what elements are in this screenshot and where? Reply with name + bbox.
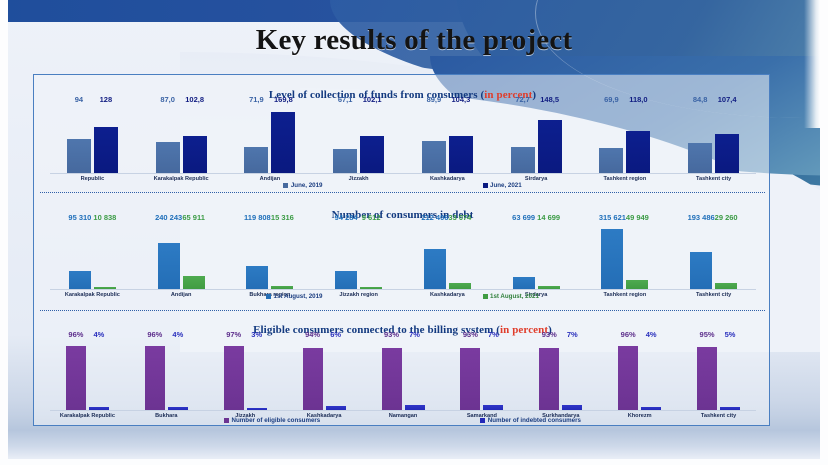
bar[interactable] [94,127,118,173]
bar-column: 93% [539,340,559,410]
legend-item[interactable]: 1st August, 2021 [483,293,539,300]
bar[interactable] [66,346,86,410]
bar-column: 7% [405,340,425,410]
legend-swatch-icon [266,294,271,299]
bar-column: 69,9 [599,105,623,173]
bar-column: 3% [247,340,267,410]
bar[interactable] [405,405,425,410]
bar[interactable] [697,347,717,410]
bar[interactable] [511,147,535,173]
bar[interactable] [599,148,623,173]
chart-2-plot: 95 31010 838Karakalpak Republic240 24365… [48,223,758,289]
bar-value-label: 212 406 [421,213,448,222]
bar[interactable] [158,243,180,289]
bar-value-label: 95 310 [68,213,91,222]
legend-swatch-icon [283,183,288,188]
bar-group: 63 69914 699Sirdarya [492,223,581,289]
legend-item[interactable]: June, 2019 [283,182,322,189]
bar[interactable] [422,141,446,173]
legend-label: 1st August, 2021 [490,293,539,300]
bar-column: 84,8 [688,105,712,173]
bar-column: 97% [224,340,244,410]
bar-column: 14 699 [538,223,560,289]
bar-column: 119 808 [246,223,268,289]
bar[interactable] [244,147,268,173]
bar-column: 10 838 [94,223,116,289]
chart-panel-billing: Eligible consumers connected to the bill… [34,310,771,427]
bar[interactable] [303,348,323,411]
bar-value-label: 96% [68,330,83,339]
bar[interactable] [326,406,346,410]
category-label: Kashkadarya [403,176,492,182]
bottom-gutter [0,459,828,465]
bar-value-label: 93% [384,330,399,339]
bar-column: 118,0 [626,105,650,173]
bar-value-label: 84,8 [693,95,708,104]
legend-label: June, 2021 [490,182,522,189]
bar-value-label: 93% [463,330,478,339]
bar-column: 94% [303,340,323,410]
bar[interactable] [94,287,116,289]
bar-column: 94 284 [335,223,357,289]
bar-group: 69,9118,0Tashkent region [581,105,670,173]
chart-panel-debt: Number of consumers in debt 95 31010 838… [34,195,771,305]
bar-column: 128 [94,105,118,173]
bar-column: 240 243 [158,223,180,289]
bar-group: 193 48629 260Tashkent city [669,223,758,289]
bar-value-label: 6% [330,330,341,339]
bar-column: 15 316 [271,223,293,289]
category-label: Karakalpak Republic [137,176,226,182]
bar-value-label: 128 [100,95,113,104]
bar-group: 212 40633 074Kashkadarya [403,223,492,289]
bar-column: 65 911 [183,223,205,289]
bar[interactable] [69,271,91,289]
bar-column: 49 949 [626,223,648,289]
bar-value-label: 169,8 [274,95,293,104]
bar-value-label: 95% [700,330,715,339]
bar-column: 95% [697,340,717,410]
chart-3-plot: 96%4%Karakalpak Republic96%4%Bukhara97%3… [48,340,758,410]
bar[interactable] [618,346,638,410]
bar-group: 95 31010 838Karakalpak Republic [48,223,137,289]
bar-column: 102,1 [360,105,384,173]
bar-group: 315 62149 949Tashkent region [581,223,670,289]
bar-value-label: 119 808 [244,213,271,222]
chart-2-legend: 1st August, 20191st August, 2021 [34,293,771,300]
bar-value-label: 118,0 [629,95,647,104]
panel-divider-1 [40,192,765,193]
bar-value-label: 10 838 [93,213,116,222]
bar[interactable] [538,120,562,173]
bar-value-label: 65 911 [182,213,205,222]
chart-1-legend: June, 2019June, 2021 [34,182,771,189]
bar-column: 63 699 [513,223,535,289]
bar-column: 193 486 [690,223,712,289]
bar[interactable] [271,112,295,173]
bar[interactable] [360,136,384,173]
bar[interactable] [360,287,382,289]
bar-column: 33 074 [449,223,471,289]
bar[interactable] [224,346,244,411]
category-label: Tashkent city [669,176,758,182]
bar[interactable] [601,229,623,289]
bar-value-label: 29 260 [715,213,738,222]
bar-group: 96%4%Bukhara [127,340,206,410]
right-gutter [820,0,828,465]
bar-value-label: 5% [725,330,736,339]
bar-value-label: 87,0 [160,95,175,104]
bar-group: 95%5%Tashkent city [679,340,758,410]
chart-2-axis [50,289,756,290]
bar-column: 4% [641,340,661,410]
bar[interactable] [513,277,535,289]
bar-column: 94 [67,105,91,173]
chart-2-title: Number of consumers in debt [34,209,771,221]
bar[interactable] [89,407,109,410]
legend-item[interactable]: Number of indebted consumers [480,417,581,424]
bar[interactable] [382,348,402,410]
bar-column: 71,9 [244,105,268,173]
bar-column: 5% [720,340,740,410]
bar-value-label: 49 949 [626,213,649,222]
bar[interactable] [246,266,268,289]
bar-value-label: 89,9 [427,95,442,104]
bar[interactable] [483,405,503,410]
bar[interactable] [715,283,737,289]
legend-swatch-icon [483,294,488,299]
bar-value-label: 4% [646,330,657,339]
bar-value-label: 94 284 [335,213,358,222]
bar-column: 93% [382,340,402,410]
bar[interactable] [424,249,446,289]
chart-3-legend: Number of eligible consumersNumber of in… [34,417,771,424]
bar-group: 71,9169,8Andijan [226,105,315,173]
bar-column: 169,8 [271,105,295,173]
chart-panel-collection: Level of collection of funds from consum… [34,75,771,192]
bar-column: 67,1 [333,105,357,173]
bar-column: 96% [145,340,165,410]
bar[interactable] [183,136,207,173]
bar[interactable] [538,286,560,289]
decorative-right-edge [804,0,820,128]
legend-label: 1st August, 2019 [274,293,323,300]
legend-label: June, 2019 [291,182,323,189]
bar-column: 9 612 [360,223,382,289]
bar-value-label: 71,9 [249,95,264,104]
bar-column: 7% [562,340,582,410]
bar-value-label: 96% [621,330,636,339]
chart-3-title: Eligible consumers connected to the bill… [34,324,771,336]
bar-value-label: 4% [94,330,105,339]
bar-value-label: 93% [542,330,557,339]
bar-group: 119 80815 316Bukhara region [226,223,315,289]
slide-canvas: Key results of the project Level of coll… [0,0,828,465]
bar-value-label: 15 316 [271,213,294,222]
bar-group: 87,0102,8Karakalpak Republic [137,105,226,173]
bar-value-label: 67,1 [338,95,353,104]
bar[interactable] [67,139,91,173]
legend-item[interactable]: June, 2021 [483,182,522,189]
bar[interactable] [271,286,293,289]
bar-column: 96% [66,340,86,410]
page-title: Key results of the project [0,24,828,57]
bar[interactable] [156,142,180,173]
bar-group: 93%7%Samarkand [442,340,521,410]
bar[interactable] [168,407,188,410]
bar[interactable] [247,408,267,410]
bar-value-label: 104,3 [451,95,470,104]
bar-group: 67,1102,1Jizzakh [314,105,403,173]
bar[interactable] [562,405,582,410]
chart-1-axis [50,173,756,174]
bar-column: 212 406 [424,223,446,289]
bar-value-label: 94 [75,95,83,104]
bar-group: 93%7%Surkhandarya [521,340,600,410]
bar-value-label: 193 486 [688,213,715,222]
category-label: Sirdarya [492,176,581,182]
bar-column: 4% [168,340,188,410]
bar-value-label: 96% [147,330,162,339]
bar[interactable] [720,407,740,410]
bar-value-label: 240 243 [155,213,182,222]
bar-value-label: 69,9 [604,95,619,104]
bar-value-label: 72,7 [515,95,530,104]
bar-value-label: 63 699 [512,213,535,222]
bar-group: 240 24365 911Andijan [137,223,226,289]
bar[interactable] [626,280,648,289]
bar[interactable] [145,346,165,410]
bar-value-label: 14 699 [537,213,560,222]
bar[interactable] [449,136,473,173]
legend-swatch-icon [480,418,485,423]
category-label: Jizzakh [314,176,403,182]
bar-value-label: 102,8 [185,95,204,104]
bar-group: 96%4%Khorezm [600,340,679,410]
bar-value-label: 107,4 [718,95,737,104]
bar[interactable] [626,131,650,173]
bar-column: 148,5 [538,105,562,173]
bar-value-label: 7% [567,330,578,339]
bar[interactable] [715,134,739,173]
category-label: Tashkent region [581,176,670,182]
bar[interactable] [335,271,357,289]
bar-column: 87,0 [156,105,180,173]
legend-item[interactable]: Number of eligible consumers [224,417,320,424]
bar[interactable] [688,143,712,173]
bar-value-label: 94% [305,330,320,339]
bar-group: 96%4%Karakalpak Republic [48,340,127,410]
bar[interactable] [539,348,559,410]
bar-group: 84,8107,4Tashkent city [669,105,758,173]
bar-group: 72,7148,5Sirdarya [492,105,581,173]
bar-group: 94128Republic [48,105,137,173]
bar-column: 102,8 [183,105,207,173]
chart-3-axis [50,410,756,411]
legend-swatch-icon [224,418,229,423]
bar[interactable] [333,149,357,173]
category-label: Republic [48,176,137,182]
bar-value-label: 102,1 [363,95,382,104]
bar-value-label: 4% [172,330,183,339]
category-label: Andijan [226,176,315,182]
legend-swatch-icon [483,183,488,188]
legend-item[interactable]: 1st August, 2019 [266,293,322,300]
bar-group: 89,9104,3Kashkadarya [403,105,492,173]
bar[interactable] [641,407,661,410]
bar-column: 95 310 [69,223,91,289]
bar[interactable] [449,283,471,289]
chart-1-title-tail: ) [532,89,536,101]
bar[interactable] [690,252,712,289]
bar-column: 96% [618,340,638,410]
bar-value-label: 7% [488,330,499,339]
chart-1-plot: 94128Republic87,0102,8Karakalpak Republi… [48,105,758,173]
bar-value-label: 3% [251,330,262,339]
bar[interactable] [460,348,480,410]
bar-column: 104,3 [449,105,473,173]
bar-column: 315 621 [601,223,623,289]
charts-frame: Level of collection of funds from consum… [33,74,770,426]
bar-value-label: 33 074 [448,213,471,222]
bar-value-label: 7% [409,330,420,339]
bar[interactable] [183,276,205,289]
bar-column: 93% [460,340,480,410]
bar-column: 107,4 [715,105,739,173]
bar-value-label: 97% [226,330,241,339]
bar-column: 89,9 [422,105,446,173]
bar-value-label: 148,5 [540,95,559,104]
panel-divider-2 [40,310,765,311]
bar-column: 29 260 [715,223,737,289]
bar-column: 4% [89,340,109,410]
bar-group: 93%7%Namangan [364,340,443,410]
left-gutter [0,0,8,465]
legend-label: Number of indebted consumers [488,417,581,424]
bar-column: 6% [326,340,346,410]
bar-column: 72,7 [511,105,535,173]
bar-group: 94%6%Kashkadarya [285,340,364,410]
bar-group: 97%3%Jizzakh [206,340,285,410]
bar-column: 7% [483,340,503,410]
bar-value-label: 9 612 [362,213,381,222]
bar-value-label: 315 621 [599,213,626,222]
bar-group: 94 2849 612Jizzakh region [314,223,403,289]
legend-label: Number of eligible consumers [232,417,321,424]
chart-1-title: Level of collection of funds from consum… [34,89,771,101]
